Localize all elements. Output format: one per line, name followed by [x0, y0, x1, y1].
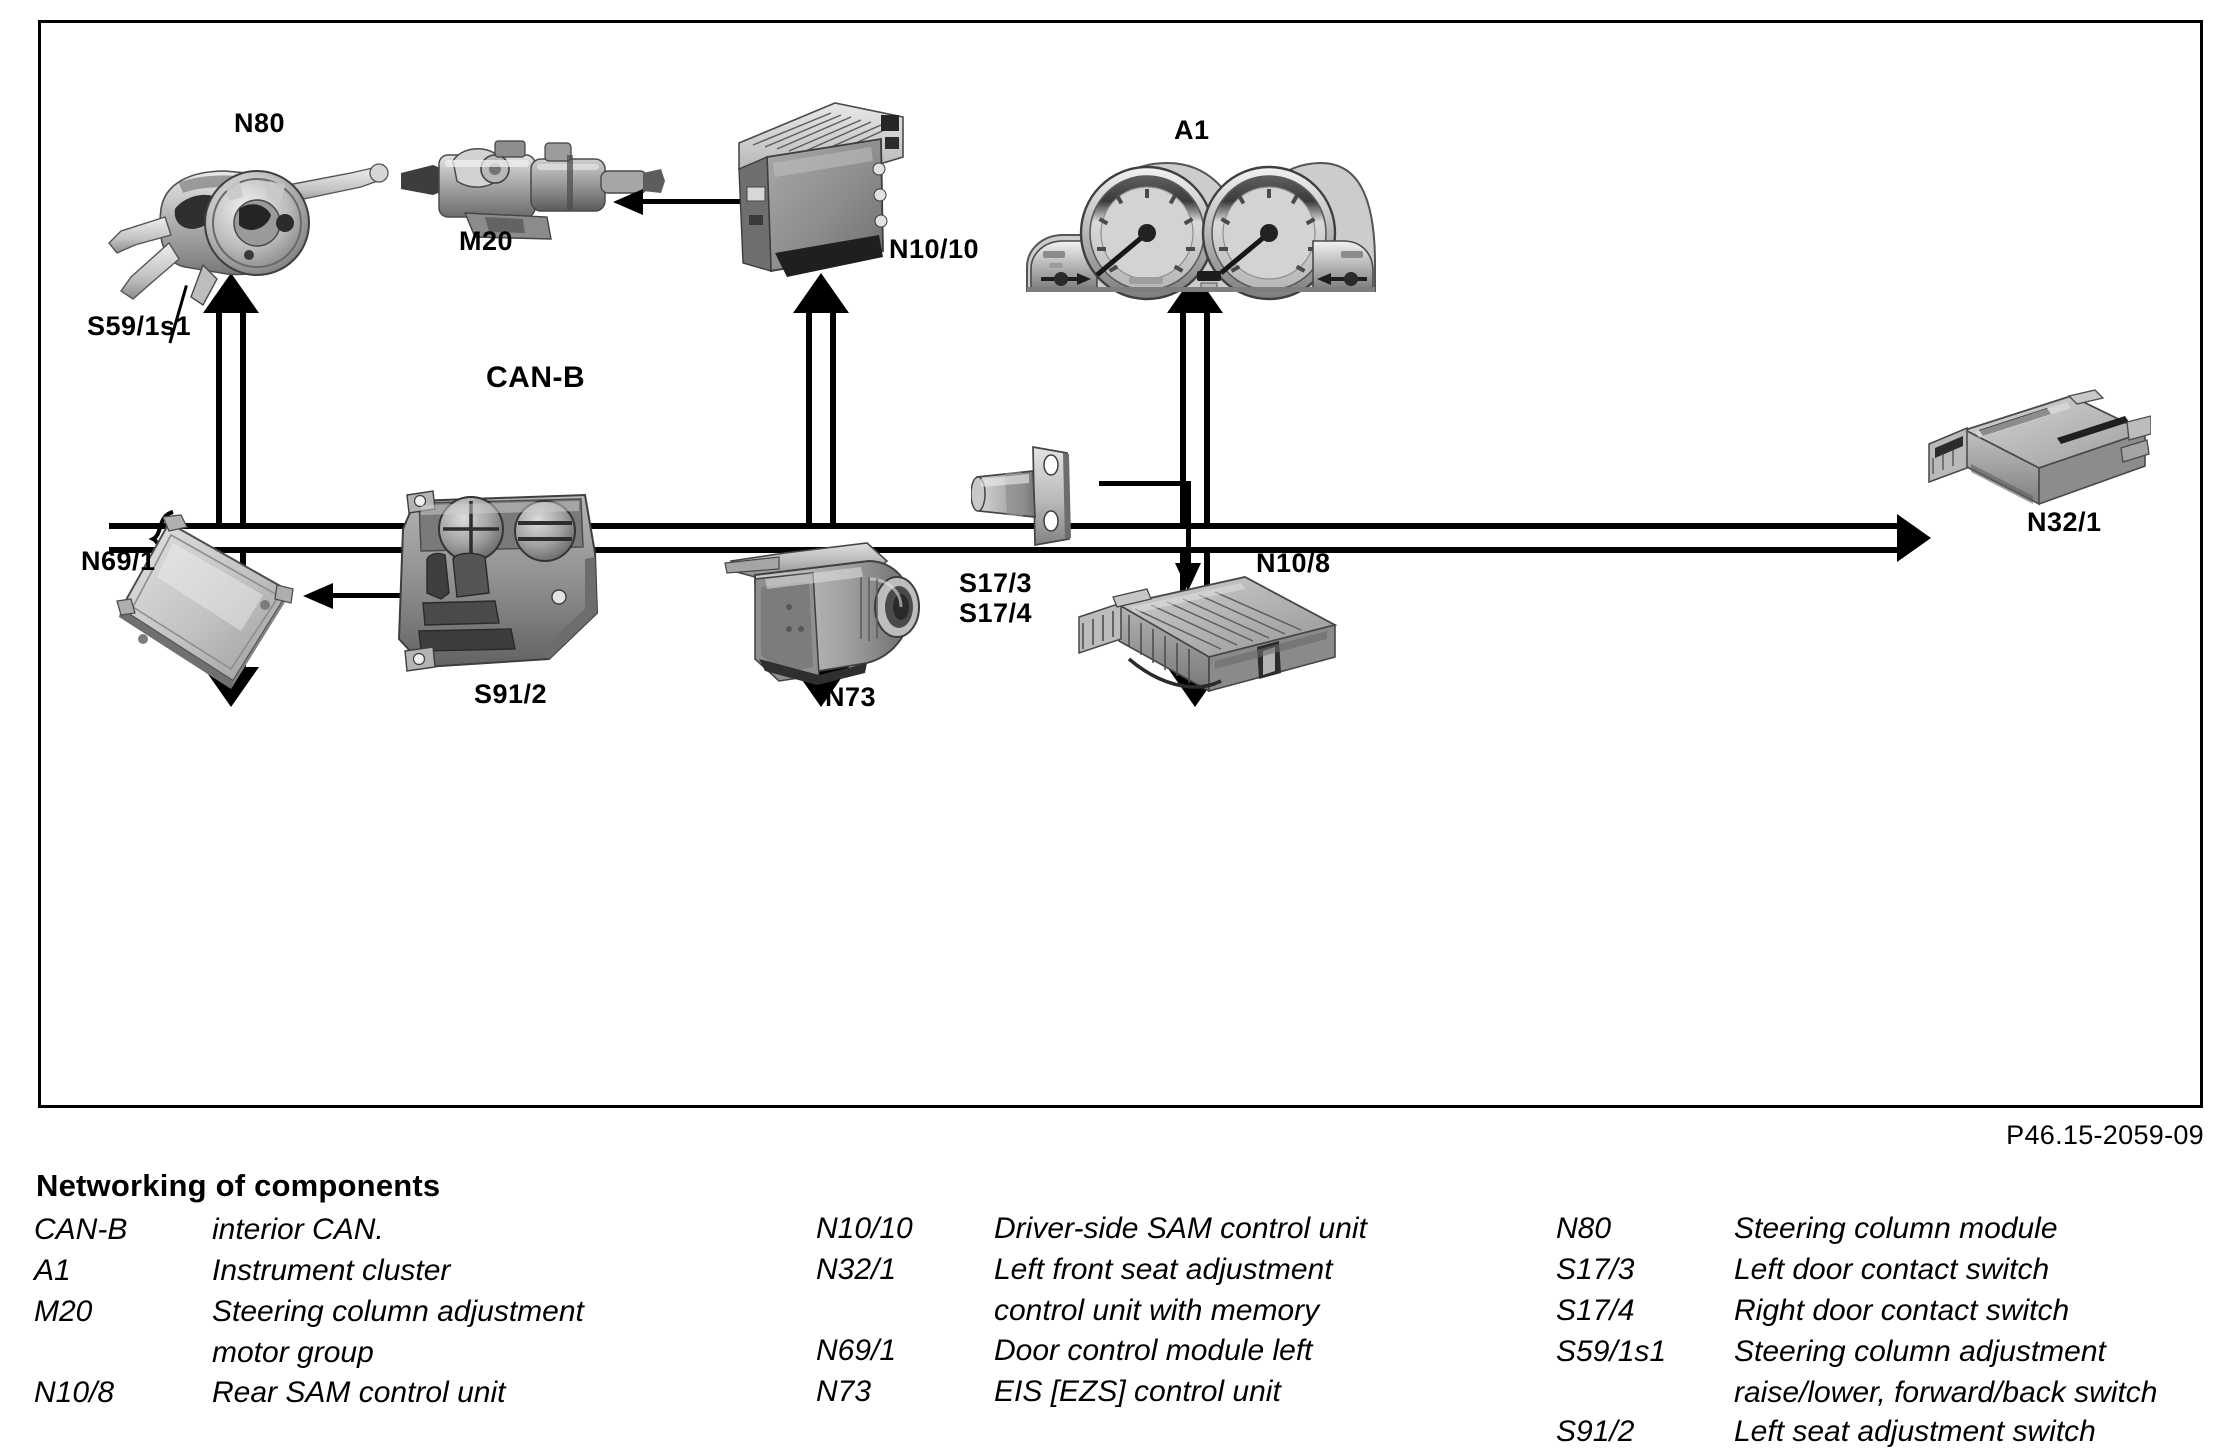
component-n1010-sam-control-unit: [731, 95, 911, 285]
legend-title: Networking of components: [36, 1168, 804, 1204]
component-n10-8-rear-sam-control-unit: [1073, 563, 1353, 713]
legend-row: S17/4 Right door contact switch: [1556, 1291, 2240, 1331]
legend-row: S59/1s1 Steering column adjustment: [1556, 1332, 2240, 1372]
legend-code: N73: [816, 1372, 994, 1412]
legend-description: Steering column module: [1734, 1209, 2058, 1249]
legend-description: interior CAN.: [212, 1210, 384, 1250]
legend-description: Instrument cluster: [212, 1251, 450, 1291]
legend-code: N80: [1556, 1209, 1734, 1249]
legend-code: S17/3: [1556, 1250, 1734, 1290]
branch-n80-left-rail: [216, 311, 222, 529]
legend-description: Left seat adjustment switch: [1734, 1412, 2096, 1452]
legend-column-2: N10/10 Driver-side SAM control unit N32/…: [816, 1168, 1546, 1412]
arrow-s17-to-n108-vertical: [1186, 481, 1191, 567]
component-n69-1-door-control-module: [113, 509, 303, 689]
legend-row: N73 EIS [EZS] control unit: [816, 1372, 1546, 1412]
legend-row: N80 Steering column module: [1556, 1209, 2240, 1249]
label-s59-1s1: S59/1s1: [87, 311, 191, 341]
legend-description: Rear SAM control unit: [212, 1373, 505, 1413]
can-bus-label: CAN-B: [486, 361, 585, 395]
legend-row: N10/10 Driver-side SAM control unit: [816, 1209, 1546, 1249]
label-n69-1: N69/1: [81, 546, 156, 576]
component-n80-steering-column-module: [99, 131, 389, 311]
arrow-s91-to-n69-head: [303, 583, 333, 609]
legend-description: Steering column adjustment: [1734, 1332, 2106, 1372]
legend-row: A1 Instrument cluster: [34, 1251, 804, 1291]
legend-description: EIS [EZS] control unit: [994, 1372, 1281, 1412]
legend-code: S59/1s1: [1556, 1332, 1734, 1372]
branch-n80-right-rail: [240, 311, 246, 529]
label-n10-10: N10/10: [889, 234, 979, 264]
legend-code: N10/10: [816, 1209, 994, 1249]
legend-description-continued: control unit with memory: [994, 1291, 1546, 1331]
legend-row: N69/1 Door control module left: [816, 1331, 1546, 1371]
component-n73-eis-control-unit: [721, 531, 936, 691]
legend-row: S91/2 Left seat adjustment switch: [1556, 1412, 2240, 1452]
branch-n1010-left-rail: [806, 311, 812, 529]
label-m20: M20: [459, 226, 513, 256]
label-n10-8: N10/8: [1256, 548, 1331, 578]
component-a1-instrument-cluster: [1021, 151, 1381, 306]
component-s91-2-seat-adjustment-switch: [389, 489, 619, 689]
branch-a1-right-rail: [1204, 311, 1210, 529]
legend-column-spacer: [1556, 1168, 2240, 1209]
component-s17-door-contact-switch: [971, 443, 1091, 558]
legend-column-spacer: [816, 1168, 1546, 1209]
legend-code: N10/8: [34, 1373, 212, 1413]
legend-description: Right door contact switch: [1734, 1291, 2069, 1331]
drawing-number: P46.15-2059-09: [2006, 1120, 2204, 1151]
arrow-n1010-to-m20-head: [613, 189, 643, 215]
legend: Networking of components CAN-B interior …: [26, 1168, 2226, 1448]
legend-description: Door control module left: [994, 1331, 1313, 1371]
label-n80: N80: [234, 108, 285, 138]
legend-code: S91/2: [1556, 1412, 1734, 1452]
legend-description: Left front seat adjustment: [994, 1250, 1333, 1290]
legend-row: N32/1 Left front seat adjustment: [816, 1250, 1546, 1290]
legend-code: A1: [34, 1251, 212, 1291]
legend-code: S17/4: [1556, 1291, 1734, 1331]
arrow-s17-to-n108-horizontal: [1099, 481, 1191, 486]
legend-row: M20 Steering column adjustment: [34, 1292, 804, 1332]
label-n73: N73: [825, 682, 876, 712]
legend-row: N10/8 Rear SAM control unit: [34, 1373, 804, 1413]
legend-column-1: Networking of components CAN-B interior …: [34, 1168, 804, 1413]
legend-code: M20: [34, 1292, 212, 1332]
diagram-frame: CAN-B: [38, 20, 2203, 1108]
legend-code: CAN-B: [34, 1210, 212, 1250]
legend-row: S17/3 Left door contact switch: [1556, 1250, 2240, 1290]
legend-description-continued: raise/lower, forward/back switch: [1734, 1373, 2240, 1413]
legend-description-continued: motor group: [212, 1333, 804, 1373]
label-s17-3-s17-4: S17/3 S17/4: [959, 568, 1032, 628]
branch-n1010-right-rail: [830, 311, 836, 529]
legend-code: N69/1: [816, 1331, 994, 1371]
legend-description: Steering column adjustment: [212, 1292, 584, 1332]
legend-code: N32/1: [816, 1250, 994, 1290]
legend-description: Driver-side SAM control unit: [994, 1209, 1367, 1249]
component-n32-1-seat-adjustment-control-unit: [1921, 386, 2151, 526]
legend-row: CAN-B interior CAN.: [34, 1210, 804, 1250]
label-s91-2: S91/2: [474, 679, 547, 709]
legend-column-3: N80 Steering column module S17/3 Left do…: [1556, 1168, 2240, 1453]
legend-description: Left door contact switch: [1734, 1250, 2049, 1290]
label-n32-1: N32/1: [2027, 507, 2102, 537]
label-a1: A1: [1174, 115, 1210, 145]
